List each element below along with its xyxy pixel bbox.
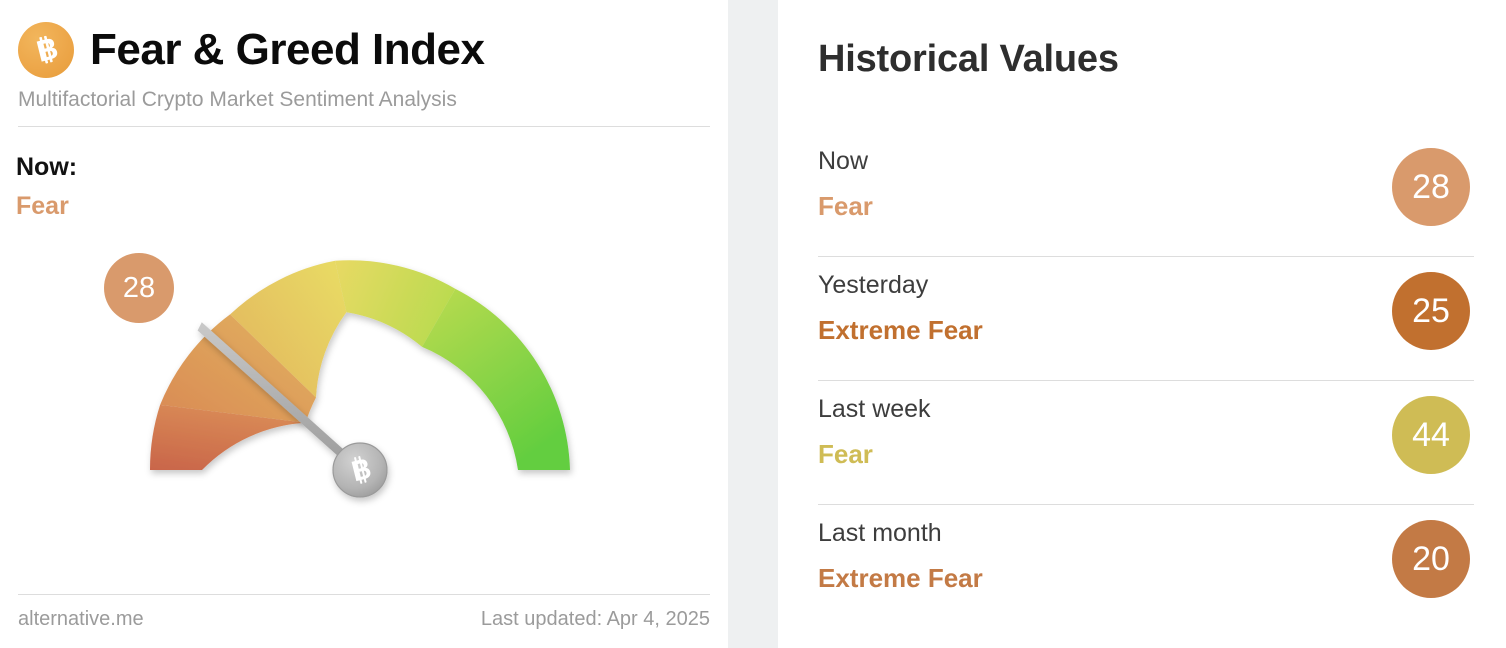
list-item[interactable]: Yesterday Extreme Fear 25	[818, 257, 1474, 381]
historical-values-panel: Historical Values Now Fear 28 Yesterday …	[778, 0, 1506, 648]
now-label: Now:	[16, 153, 77, 182]
history-value-badge: 44	[1392, 396, 1470, 474]
last-updated-text: Last updated: Apr 4, 2025	[481, 608, 710, 631]
history-classification: Fear	[818, 191, 873, 222]
list-item[interactable]: Last month Extreme Fear 20	[818, 505, 1474, 629]
now-classification: Fear	[16, 192, 69, 221]
history-classification: Extreme Fear	[818, 315, 983, 346]
gauge-chart	[100, 222, 620, 562]
history-period-label: Now	[818, 147, 868, 176]
bitcoin-icon	[18, 22, 74, 78]
list-item[interactable]: Now Fear 28	[818, 133, 1474, 257]
history-value-badge: 28	[1392, 148, 1470, 226]
history-period-label: Last month	[818, 519, 942, 548]
history-period-label: Last week	[818, 395, 931, 424]
historical-values-list: Now Fear 28 Yesterday Extreme Fear 25 La…	[818, 133, 1474, 629]
history-value-badge: 20	[1392, 520, 1470, 598]
header-divider	[18, 126, 710, 127]
source-link[interactable]: alternative.me	[18, 608, 144, 631]
fear-greed-widget: Fear & Greed Index Multifactorial Crypto…	[0, 0, 1506, 648]
gauge-value-badge: 28	[104, 253, 174, 323]
history-value-badge: 25	[1392, 272, 1470, 350]
history-period-label: Yesterday	[818, 271, 928, 300]
history-classification: Extreme Fear	[818, 563, 983, 594]
index-panel: Fear & Greed Index Multifactorial Crypto…	[0, 0, 728, 648]
footer-divider	[18, 594, 710, 595]
page-subtitle: Multifactorial Crypto Market Sentiment A…	[18, 88, 457, 112]
history-classification: Fear	[818, 439, 873, 470]
gauge-arc	[150, 260, 570, 470]
historical-values-title: Historical Values	[818, 38, 1119, 81]
list-item[interactable]: Last week Fear 44	[818, 381, 1474, 505]
header: Fear & Greed Index	[18, 22, 484, 78]
page-title: Fear & Greed Index	[90, 28, 484, 72]
